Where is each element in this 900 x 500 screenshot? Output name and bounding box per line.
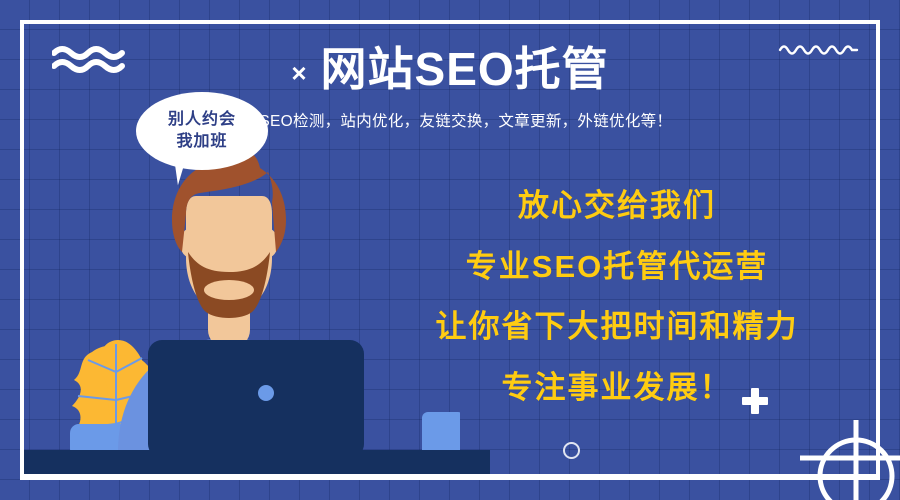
laptop-screen-back xyxy=(148,340,364,458)
speech-bubble: 别人约会 我加班 xyxy=(136,92,268,170)
desk-edge-line xyxy=(24,474,876,477)
laptop-logo-icon xyxy=(258,385,274,401)
speech-bubble-line-2: 我加班 xyxy=(176,131,227,153)
desk-circle-icon xyxy=(563,442,580,459)
character-scene xyxy=(0,0,460,500)
poster-canvas: × 网站SEO托管 含：SEO检测，站内优化，友链交换，文章更新，外链优化等！ … xyxy=(0,0,900,500)
mouth-shape xyxy=(204,280,254,300)
plus-mark-icon xyxy=(742,388,768,414)
circle-crosshair-icon xyxy=(800,420,900,500)
desk-surface xyxy=(24,450,490,476)
speech-bubble-line-1: 别人约会 xyxy=(168,109,236,131)
